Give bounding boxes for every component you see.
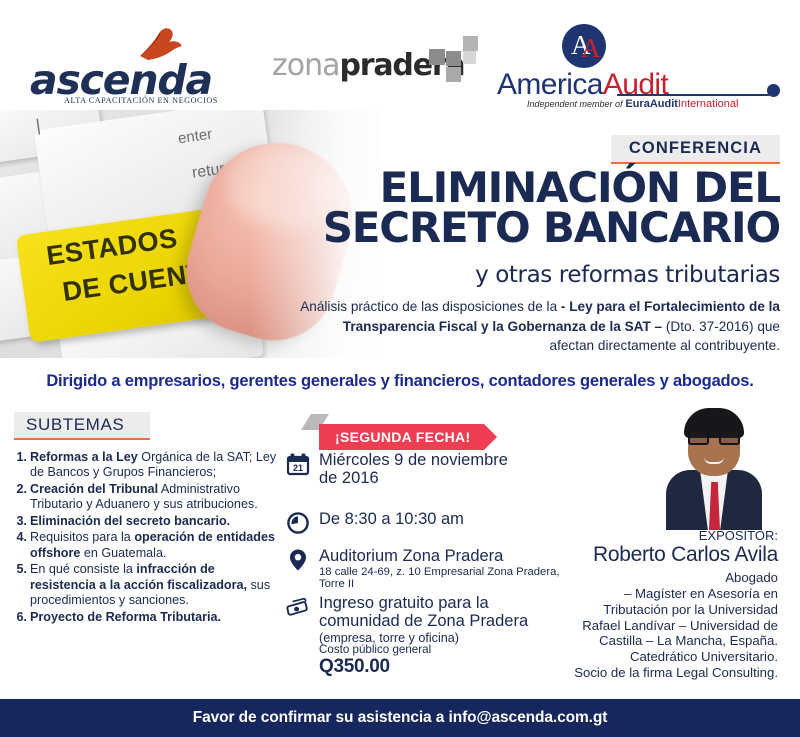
speaker-bio-4: Rafael Landívar – Universidad de bbox=[516, 618, 778, 634]
americaaudit-member-line: Independent member of EuraAuditInternati… bbox=[527, 98, 738, 110]
subtema-bold: Eliminación del secreto bancario. bbox=[30, 514, 230, 528]
subtema-item: 2.Creación del Tribunal Administrativo T… bbox=[14, 482, 282, 513]
event-time-value: De 8:30 a 10:30 am bbox=[319, 511, 464, 529]
event-cost-row: Ingreso gratuito para la comunidad de Zo… bbox=[286, 595, 528, 645]
americaaudit-wordmark: AmericaAudit bbox=[497, 68, 668, 102]
speaker-bio-2: – Magíster en Asesoría en bbox=[516, 586, 778, 602]
speaker-bio-3: Tributación por la Universidad bbox=[516, 602, 778, 618]
subtemas-heading: SUBTEMAS bbox=[14, 412, 150, 440]
ascenda-tagline: ALTA CAPACITACIÓN EN NEGOCIOS bbox=[64, 96, 218, 105]
subtema-text: Reformas a la Ley Orgánica de la SAT; Le… bbox=[30, 450, 282, 481]
price-block: Costo público general Q350.00 bbox=[319, 643, 431, 678]
subtema-bold: Proyecto de Reforma Tributaria. bbox=[30, 610, 221, 624]
subtema-text: Requisitos para la operación de entidade… bbox=[30, 530, 282, 561]
americaaudit-part1: America bbox=[497, 68, 603, 101]
desc-part-2: - Ley para el Fortalecimiento bbox=[561, 299, 745, 314]
subtema-bold: Creación del Tribunal bbox=[30, 482, 158, 496]
subtema-number: 6. bbox=[14, 610, 30, 625]
audience-text: Dirigido a empresarios, gerentes general… bbox=[46, 372, 753, 391]
footer-bar: Favor de confirmar su asistencia a info@… bbox=[0, 699, 800, 737]
location-pin-icon bbox=[286, 548, 310, 572]
event-time-row: De 8:30 a 10:30 am bbox=[286, 511, 464, 535]
hero-section: | enter return ESTADOS DE CUENTA CONFERE… bbox=[0, 110, 800, 358]
subtemas-heading-label: SUBTEMAS bbox=[26, 415, 124, 434]
title-line-1: ELIMINACIÓN DEL bbox=[323, 168, 780, 208]
title-subtitle: y otras reformas tributarias bbox=[475, 262, 780, 288]
title-line-2: SECRETO BANCARIO bbox=[323, 208, 780, 248]
segunda-fecha-label: ¡SEGUNDA FECHA! bbox=[335, 429, 470, 445]
subtema-item: 6.Proyecto de Reforma Tributaria. bbox=[14, 610, 282, 625]
conferencia-badge-label: CONFERENCIA bbox=[629, 139, 762, 157]
speaker-bio-6: Catedrático Universitario. bbox=[516, 649, 778, 665]
price-value: Q350.00 bbox=[319, 656, 431, 678]
ascenda-logo: ascenda ALTA CAPACITACIÓN EN NEGOCIOS bbox=[30, 30, 205, 102]
speaker-photo bbox=[660, 408, 768, 530]
desc-part-1: Análisis práctico de las disposiciones d… bbox=[300, 299, 561, 314]
logo-bar: ascenda ALTA CAPACITACIÓN EN NEGOCIOS zo… bbox=[0, 0, 800, 110]
subtema-text: Eliminación del secreto bancario. bbox=[30, 514, 282, 529]
member-brand-2: International bbox=[678, 98, 739, 110]
conferencia-badge: CONFERENCIA bbox=[611, 135, 780, 164]
americaaudit-rule bbox=[617, 94, 769, 96]
speaker-label: EXPOSITOR: bbox=[699, 528, 778, 543]
subtema-text: Proyecto de Reforma Tributaria. bbox=[30, 610, 282, 625]
speaker-name: Roberto Carlos Avila bbox=[593, 543, 778, 567]
segunda-fecha-ribbon: ¡SEGUNDA FECHA! bbox=[319, 424, 484, 450]
americaaudit-part2: Audit bbox=[603, 68, 668, 101]
hero-description: Análisis práctico de las disposiciones d… bbox=[300, 297, 780, 356]
page-title: ELIMINACIÓN DEL SECRETO BANCARIO bbox=[323, 168, 780, 249]
subtema-text: Creación del Tribunal Administrativo Tri… bbox=[30, 482, 282, 513]
svg-text:21: 21 bbox=[293, 463, 303, 473]
subtema-number: 1. bbox=[14, 450, 30, 481]
subtema-item: 3.Eliminación del secreto bancario. bbox=[14, 514, 282, 529]
zonapradera-squares-icon bbox=[425, 36, 483, 86]
subtema-item: 5.En qué consiste la infracción de resis… bbox=[14, 562, 282, 608]
subtema-number: 4. bbox=[14, 530, 30, 561]
member-brand-1: EuraAudit bbox=[625, 98, 678, 110]
subtema-text: En qué consiste la infracción de resiste… bbox=[30, 562, 282, 608]
money-icon bbox=[286, 595, 310, 619]
member-prefix: Independent member of bbox=[527, 99, 623, 109]
conference-flyer: ascenda ALTA CAPACITACIÓN EN NEGOCIOS zo… bbox=[0, 0, 800, 737]
speaker-bio: Abogado – Magíster en Asesoría en Tribut… bbox=[516, 570, 778, 681]
speaker-bio-7: Socio de la firma Legal Consulting. bbox=[516, 665, 778, 681]
event-date-text: Miércoles 9 de noviembre de 2016 bbox=[319, 452, 508, 488]
calendar-icon: 21 bbox=[286, 452, 310, 476]
americaaudit-monogram-icon: AA bbox=[562, 24, 606, 68]
speaker-bio-5: Castilla – La Mancha, España. bbox=[516, 633, 778, 649]
desc-part-4: (Dto. 37-2016) bbox=[662, 319, 753, 334]
event-place-name: Auditorium Zona Pradera bbox=[319, 548, 560, 566]
price-label: Costo público general bbox=[319, 643, 431, 656]
subtema-prefix: En qué consiste la bbox=[30, 562, 136, 576]
zonapradera-part1: zona bbox=[272, 48, 340, 83]
subtema-number: 2. bbox=[14, 482, 30, 513]
footer-text: Favor de confirmar su asistencia a info@… bbox=[193, 709, 608, 727]
subtema-rest: en Guatemala. bbox=[80, 546, 166, 560]
subtema-item: 1.Reformas a la Ley Orgánica de la SAT; … bbox=[14, 450, 282, 481]
event-time-text: De 8:30 a 10:30 am bbox=[319, 511, 464, 529]
event-cost-line1: Ingreso gratuito para la bbox=[319, 595, 528, 613]
subtema-bold: Reformas a la Ley bbox=[30, 450, 138, 464]
subtema-prefix: Requisitos para la bbox=[30, 530, 134, 544]
subtema-item: 4.Requisitos para la operación de entida… bbox=[14, 530, 282, 561]
americaaudit-logo: AA AmericaAudit Independent member of Eu… bbox=[497, 26, 782, 106]
event-date-line2: de 2016 bbox=[319, 470, 508, 488]
event-cost-text: Ingreso gratuito para la comunidad de Zo… bbox=[319, 595, 528, 645]
globe-icon bbox=[767, 84, 780, 97]
subtema-number: 5. bbox=[14, 562, 30, 608]
subtemas-list: 1.Reformas a la Ley Orgánica de la SAT; … bbox=[14, 450, 282, 626]
clock-icon bbox=[286, 511, 310, 535]
event-cost-line2: comunidad de Zona Pradera bbox=[319, 613, 528, 631]
subtema-number: 3. bbox=[14, 514, 30, 529]
speaker-bio-1: Abogado bbox=[516, 570, 778, 586]
glasses-icon bbox=[688, 430, 740, 445]
event-date-row: 21 Miércoles 9 de noviembre de 2016 bbox=[286, 452, 508, 488]
audience-banner: Dirigido a empresarios, gerentes general… bbox=[0, 358, 800, 404]
zonapradera-logo: zonapradera bbox=[272, 48, 464, 84]
event-date-line1: Miércoles 9 de noviembre bbox=[319, 452, 508, 470]
